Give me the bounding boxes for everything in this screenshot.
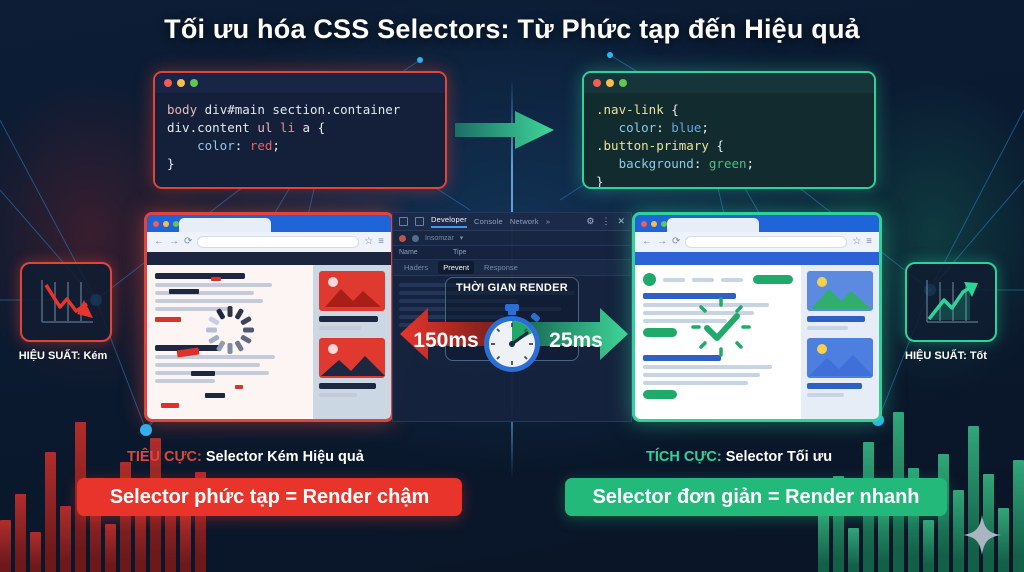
devtools-toolbar: Insomzar ▾	[393, 231, 631, 246]
tab-developer[interactable]: Developer	[431, 215, 467, 228]
menu-icon[interactable]: ≡	[378, 237, 384, 247]
page-content-fast	[635, 265, 879, 419]
nav-item[interactable]	[692, 278, 714, 282]
label-positive-text: Selector Tối ưu	[726, 449, 832, 465]
bookmark-icon[interactable]: ☆	[852, 237, 861, 247]
label-negative-text: Selector Kém Hiệu quả	[206, 449, 364, 465]
code-body-complex: body div#main section.container div.cont…	[155, 93, 445, 187]
kebab-menu-icon[interactable]: ⋮	[601, 216, 610, 227]
loading-spinner-icon	[201, 301, 259, 359]
arrow-right-icon	[455, 108, 555, 152]
render-time-label: THỜI GIAN RENDER	[445, 282, 579, 294]
image-placeholder	[319, 338, 385, 378]
browser-addressbar[interactable]: ← → ⟳ ☆ ≡	[147, 232, 391, 252]
code-card-complex-selector: body div#main section.container div.cont…	[153, 71, 447, 189]
browser-addressbar[interactable]: ← → ⟳ ☆ ≡	[635, 232, 879, 252]
tag-negative: TIÊU CỰC:	[127, 449, 202, 465]
device-toolbar-icon[interactable]	[415, 217, 424, 226]
window-dots	[155, 73, 445, 93]
logo-dot	[643, 273, 656, 286]
red-dot	[641, 221, 647, 227]
menu-icon[interactable]: ≡	[866, 237, 872, 247]
performance-badge-poor: HIỆU SUẤT: Kém	[20, 262, 112, 362]
yellow-dot	[163, 221, 169, 227]
nav-item[interactable]	[663, 278, 685, 282]
text-line	[319, 393, 357, 397]
green-dot	[190, 79, 198, 87]
clear-button[interactable]	[412, 235, 419, 242]
text-line	[807, 326, 848, 330]
content-sidebar	[313, 265, 391, 419]
browser-window-slow[interactable]: ← → ⟳ ☆ ≡	[144, 212, 394, 422]
text-line	[807, 393, 844, 397]
image-placeholder	[807, 271, 873, 311]
badge-box	[905, 262, 997, 342]
browser-window-fast[interactable]: ← → ⟳ ☆ ≡	[632, 212, 882, 422]
badge-box	[20, 262, 112, 342]
text-line	[319, 316, 378, 322]
subtab-response[interactable]: Response	[479, 261, 523, 274]
checkmark-icon	[691, 297, 751, 357]
green-dot	[619, 79, 627, 87]
yellow-dot	[651, 221, 657, 227]
text-line	[155, 363, 260, 367]
content-main	[147, 265, 313, 419]
reload-icon[interactable]: ⟳	[184, 237, 192, 247]
action-button[interactable]	[643, 328, 677, 337]
badge-caption: HIỆU SUẤT: Tốt	[895, 350, 997, 362]
back-arrow-icon[interactable]: ←	[154, 237, 164, 247]
yellow-dot	[606, 79, 614, 87]
tab-network[interactable]: Network	[510, 217, 539, 226]
banner-slow-render: Selector phức tạp = Render chậm	[77, 478, 462, 516]
devtools-tabbar: Developer Console Network » ⚙ ⋮ ✕	[393, 213, 631, 231]
bookmark-icon[interactable]: ☆	[364, 237, 373, 247]
subtab-prevent[interactable]: Prevent	[438, 261, 474, 274]
window-dots	[584, 73, 874, 93]
infographic-canvas: Tối ưu hóa CSS Selectors: Từ Phức tạp đế…	[0, 0, 1024, 572]
image-placeholder	[807, 338, 873, 378]
tab-console[interactable]: Console	[474, 217, 503, 226]
url-input[interactable]	[685, 236, 847, 248]
filter-input[interactable]: Insomzar	[425, 235, 454, 242]
text-line	[643, 373, 760, 377]
label-positive: TÍCH CỰC: Selector Tối ưu	[646, 449, 832, 465]
text-line	[155, 273, 245, 279]
browser-titlebar	[147, 215, 391, 232]
sparkle-icon	[962, 514, 1002, 556]
code-body-simple: .nav-link { color: blue; .button-primary…	[584, 93, 874, 187]
column-tipe[interactable]: Tipe	[447, 249, 507, 256]
action-button[interactable]	[643, 390, 677, 399]
page-content-slow	[147, 265, 391, 419]
text-line	[807, 316, 865, 322]
site-navbar	[635, 252, 879, 265]
render-time-slow: 150ms	[410, 329, 482, 353]
performance-badge-good: HIỆU SUẤT: Tốt	[905, 262, 997, 362]
text-line	[319, 383, 376, 389]
text-line	[155, 379, 215, 383]
cta-button[interactable]	[753, 275, 793, 284]
tab-overflow[interactable]: »	[546, 217, 550, 226]
back-arrow-icon[interactable]: ←	[642, 237, 652, 247]
column-name[interactable]: Name	[393, 249, 447, 256]
page-title: Tối ưu hóa CSS Selectors: Từ Phức tạp đế…	[0, 14, 1024, 45]
content-sidebar	[801, 265, 879, 419]
chevron-down-icon[interactable]: ▾	[460, 234, 464, 242]
stopwatch-icon	[474, 300, 550, 376]
nav-item[interactable]	[721, 278, 743, 282]
label-negative: TIÊU CỰC: Selector Kém Hiệu quả	[127, 449, 364, 465]
badge-caption: HIỆU SUẤT: Kém	[14, 350, 112, 362]
content-main	[635, 265, 801, 419]
subtab-headers[interactable]: Haders	[399, 261, 433, 274]
reload-icon[interactable]: ⟳	[672, 237, 680, 247]
red-dot	[593, 79, 601, 87]
red-dot	[164, 79, 172, 87]
browser-titlebar	[635, 215, 879, 232]
banner-fast-render: Selector đơn giản = Render nhanh	[565, 478, 947, 516]
yellow-dot	[177, 79, 185, 87]
render-time-fast: 25ms	[545, 329, 607, 353]
red-dot	[153, 221, 159, 227]
site-navbar	[147, 252, 391, 265]
browser-tab[interactable]	[667, 218, 759, 232]
close-icon[interactable]: ✕	[617, 216, 625, 227]
gear-icon[interactable]: ⚙	[586, 216, 594, 227]
trending-up-chart-icon	[918, 274, 984, 330]
browser-tab[interactable]	[179, 218, 271, 232]
text-line	[643, 381, 748, 385]
text-line	[807, 383, 862, 389]
trending-down-chart-icon	[33, 274, 99, 330]
record-button[interactable]	[399, 235, 406, 242]
url-input[interactable]	[197, 236, 359, 248]
devtools-column-headers: Name Tipe	[393, 246, 631, 260]
devtools-subtabs: Haders Prevent Response	[393, 260, 631, 276]
inspect-icon[interactable]	[399, 217, 408, 226]
forward-arrow-icon[interactable]: →	[169, 237, 179, 247]
text-line	[155, 283, 272, 287]
text-line	[643, 365, 772, 369]
tag-positive: TÍCH CỰC:	[646, 449, 722, 465]
code-card-simple-selector: .nav-link { color: blue; .button-primary…	[582, 71, 876, 189]
forward-arrow-icon[interactable]: →	[657, 237, 667, 247]
text-line	[319, 326, 361, 330]
image-placeholder	[319, 271, 385, 311]
